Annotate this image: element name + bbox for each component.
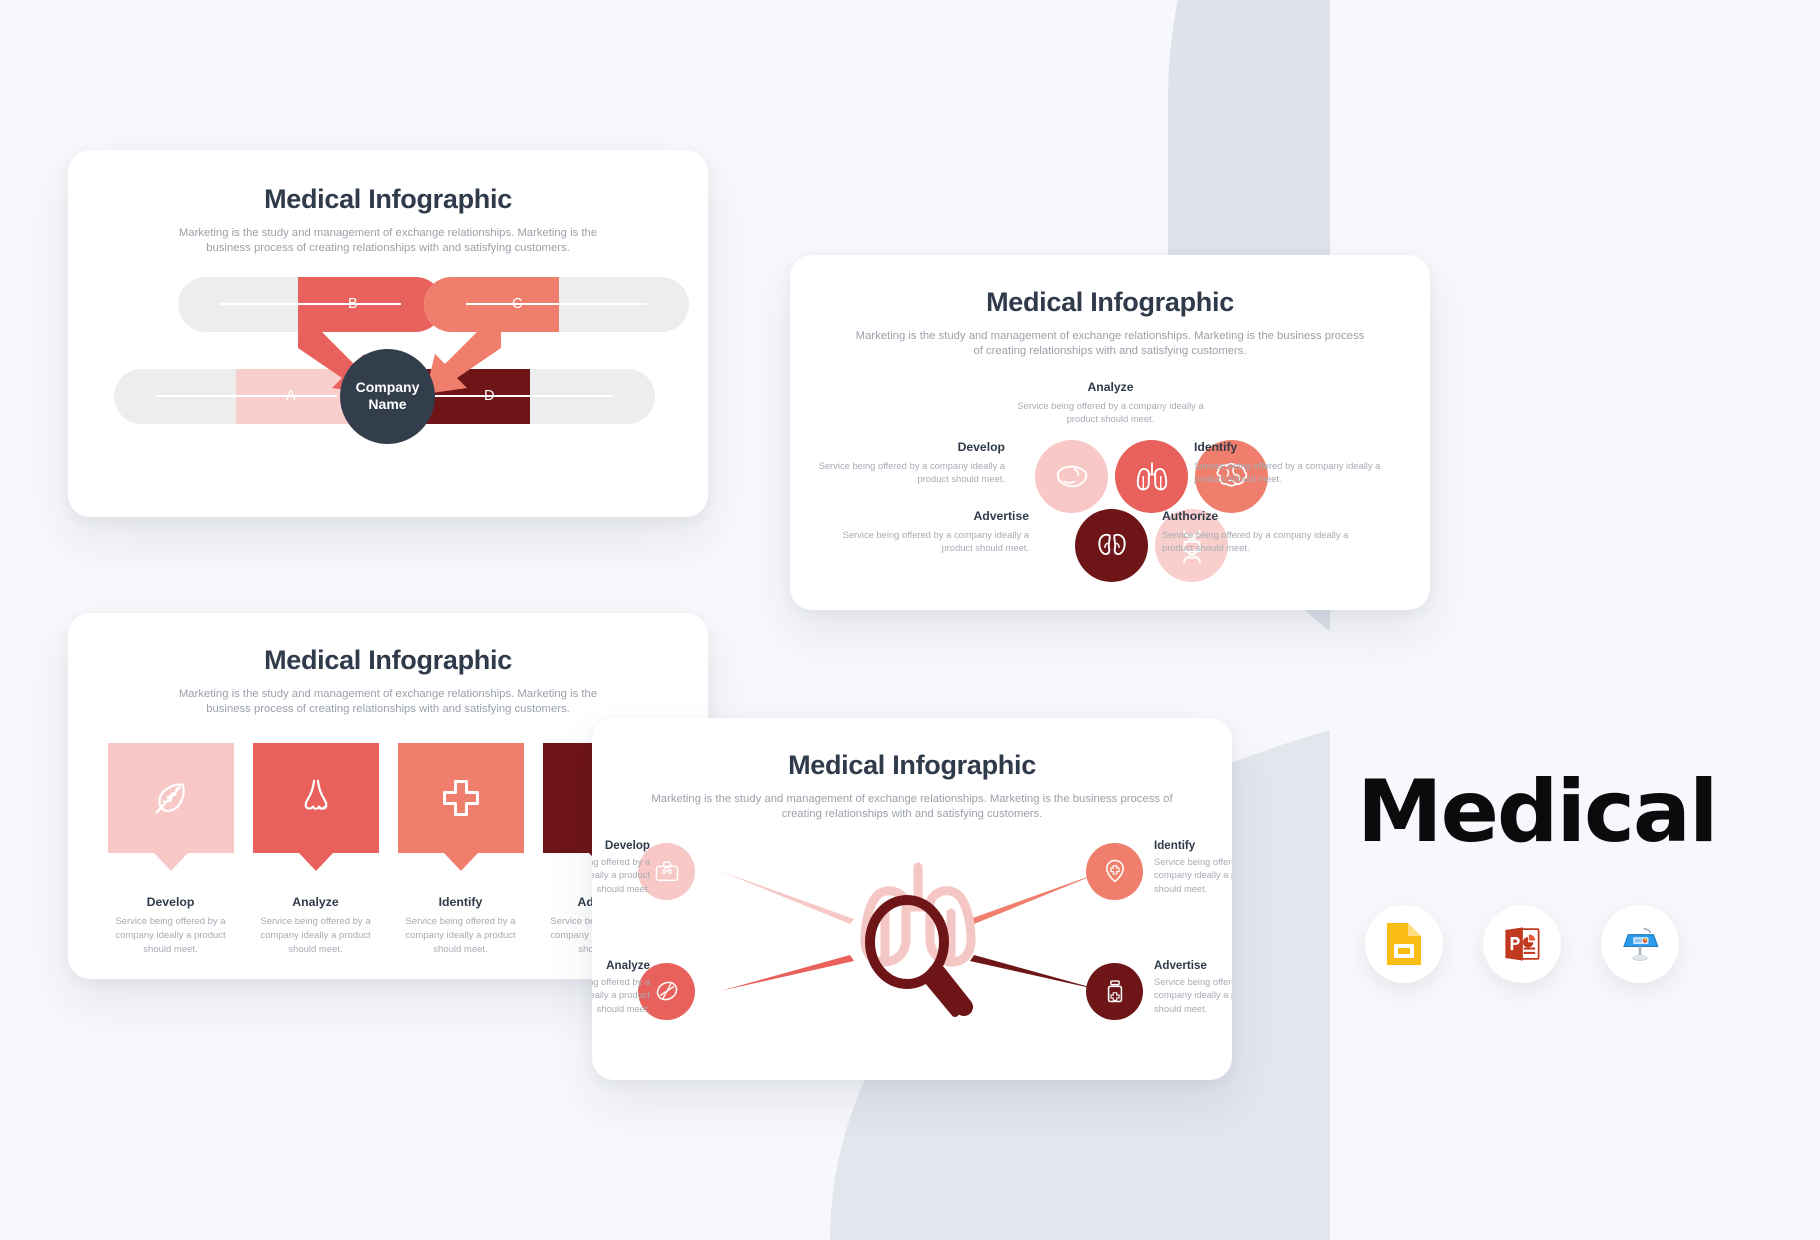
app-chip-google-slides[interactable] xyxy=(1365,905,1443,983)
label-desc: Service being offered by a company ideal… xyxy=(1154,976,1232,1018)
label-identify: Identify Service being offered by a comp… xyxy=(1154,839,1232,898)
label-text: Identify xyxy=(1194,440,1409,454)
flag-item-develop[interactable]: Develop Service being offered by a compa… xyxy=(108,743,234,958)
flag-notch xyxy=(154,853,188,871)
label-authorize: Authorize Service being offered by a com… xyxy=(1162,509,1377,555)
page-title: Medical Infographic xyxy=(592,750,1232,781)
label-desc: Service being offered by a company ideal… xyxy=(592,856,650,898)
label-desc: Service being offered by a company ideal… xyxy=(1003,399,1218,426)
label-text: Authorize xyxy=(1162,509,1377,523)
medicine-bottle-icon xyxy=(1101,977,1129,1005)
powerpoint-icon xyxy=(1501,923,1543,965)
flag-label: Identify xyxy=(398,895,524,909)
flag-item-analyze[interactable]: Analyze Service being offered by a compa… xyxy=(253,743,379,958)
flag-shape xyxy=(108,743,234,853)
flag-notch xyxy=(299,853,333,871)
medical-bag-icon xyxy=(653,857,681,885)
label-desc: Service being offered by a company ideal… xyxy=(1162,528,1377,555)
page-subtitle: Marketing is the study and management of… xyxy=(68,226,708,257)
label-develop: Develop Service being offered by a compa… xyxy=(592,839,650,898)
pill-diagram: B C A D xyxy=(68,271,708,471)
label-text: Analyze xyxy=(1003,380,1218,394)
google-slides-icon xyxy=(1384,921,1424,967)
flag-notch xyxy=(444,853,478,871)
pill-line xyxy=(466,303,647,305)
brand-title: Medical xyxy=(1357,762,1716,862)
circle-advertise[interactable] xyxy=(1086,963,1143,1020)
company-hub[interactable]: Company Name xyxy=(340,349,435,444)
hub-line-1: Company xyxy=(356,379,420,396)
pill-c[interactable]: C xyxy=(424,277,689,332)
label-analyze: Analyze Service being offered by a compa… xyxy=(592,959,650,1018)
kidneys-icon xyxy=(1093,526,1131,564)
flag-label: Analyze xyxy=(253,895,379,909)
circle-analyze[interactable] xyxy=(1115,440,1188,513)
pill-a-label: A xyxy=(286,388,296,404)
app-chip-keynote[interactable] xyxy=(1601,905,1679,983)
map-pin-cross-icon xyxy=(1101,857,1129,885)
app-chip-powerpoint[interactable] xyxy=(1483,905,1561,983)
flag-desc: Service being offered by a company ideal… xyxy=(253,915,379,958)
label-text: Advertise xyxy=(1154,959,1232,972)
page-subtitle: Marketing is the study and management of… xyxy=(68,687,708,718)
slide-card-lungs-radial[interactable]: Medical Infographic Marketing is the stu… xyxy=(592,718,1232,1080)
pill-c-label: C xyxy=(512,296,522,312)
circle-advertise[interactable] xyxy=(1075,509,1148,582)
pill-b[interactable]: B xyxy=(178,277,443,332)
label-text: Identify xyxy=(1154,839,1232,852)
leaf-icon xyxy=(148,775,194,821)
label-text: Advertise xyxy=(814,509,1029,523)
flag-shape xyxy=(398,743,524,853)
circle-identify[interactable] xyxy=(1086,843,1143,900)
flag-item-identify[interactable]: Identify Service being offered by a comp… xyxy=(398,743,524,958)
slide-card-pills[interactable]: Medical Infographic Marketing is the stu… xyxy=(68,150,708,517)
background-mask-right xyxy=(1330,0,1820,1240)
label-desc: Service being offered by a company ideal… xyxy=(790,459,1005,486)
hub-line-2: Name xyxy=(356,396,420,413)
flag-desc: Service being offered by a company ideal… xyxy=(108,915,234,958)
flag-desc: Service being offered by a company ideal… xyxy=(398,915,524,958)
flag-label: Develop xyxy=(108,895,234,909)
circle-develop[interactable] xyxy=(1035,440,1108,513)
pill-b-label: B xyxy=(348,296,358,312)
page-subtitle: Marketing is the study and management of… xyxy=(592,792,1232,823)
radial-diagram: Develop Service being offered by a compa… xyxy=(592,831,1232,1056)
label-desc: Service being offered by a company ideal… xyxy=(1154,856,1232,898)
label-text: Develop xyxy=(790,440,1005,454)
page-title: Medical Infographic xyxy=(68,184,708,215)
slide-card-organ-circles[interactable]: Medical Infographic Marketing is the stu… xyxy=(790,255,1430,610)
label-advertise: Advertise Service being offered by a com… xyxy=(1154,959,1232,1018)
label-desc: Service being offered by a company ideal… xyxy=(1194,459,1409,486)
lungs-icon xyxy=(1133,457,1171,495)
label-desc: Service being offered by a company ideal… xyxy=(814,528,1029,555)
label-text: Develop xyxy=(592,839,650,852)
app-compatibility-icons xyxy=(1365,905,1679,983)
organ-circle-cluster: Analyze Service being offered by a compa… xyxy=(790,374,1430,589)
page-title: Medical Infographic xyxy=(68,645,708,676)
page-title: Medical Infographic xyxy=(790,287,1430,318)
flag-shape xyxy=(253,743,379,853)
page-subtitle: Marketing is the study and management of… xyxy=(790,329,1430,360)
label-desc: Service being offered by a company ideal… xyxy=(592,976,650,1018)
lungs-magnifier-icon xyxy=(828,849,1008,1039)
keynote-icon xyxy=(1618,923,1662,965)
label-identify: Identify Service being offered by a comp… xyxy=(1194,440,1409,486)
pill-icon xyxy=(653,977,681,1005)
cross-icon xyxy=(439,776,483,820)
nose-icon xyxy=(293,775,339,821)
label-analyze: Analyze Service being offered by a compa… xyxy=(1003,380,1218,426)
pill-line xyxy=(220,303,401,305)
label-advertise: Advertise Service being offered by a com… xyxy=(814,509,1029,555)
label-text: Analyze xyxy=(592,959,650,972)
label-develop: Develop Service being offered by a compa… xyxy=(790,440,1005,486)
liver-icon xyxy=(1053,457,1091,495)
